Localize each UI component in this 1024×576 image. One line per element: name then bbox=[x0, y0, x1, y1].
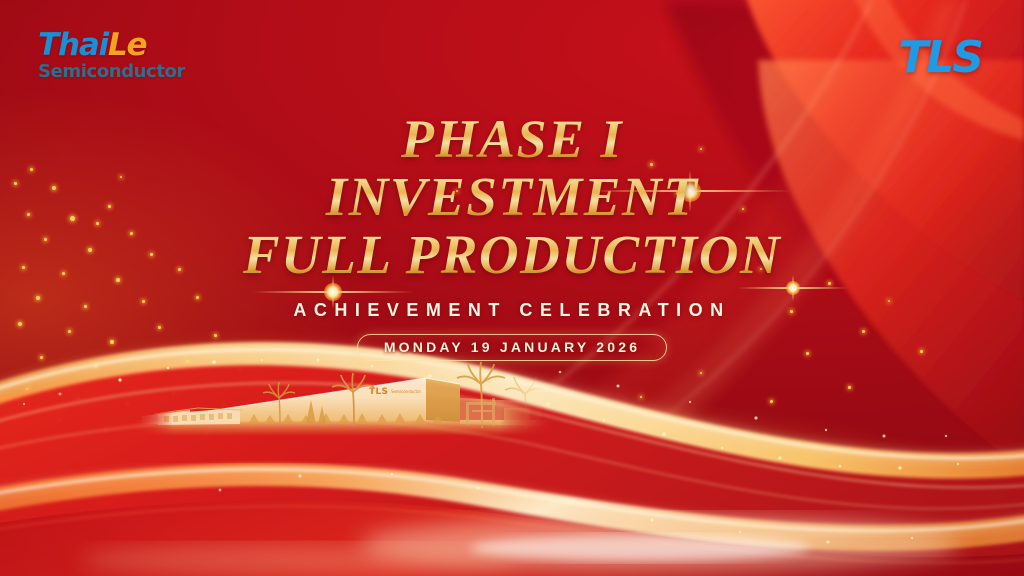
event-subtitle: ACHIEVEMENT CELEBRATION bbox=[0, 300, 1024, 321]
headline-line-1: PHASE I bbox=[0, 112, 1024, 166]
thaile-wordmark: ThaiLe bbox=[38, 30, 185, 61]
svg-text:Semiconductor: Semiconductor bbox=[391, 389, 421, 394]
event-date-badge: MONDAY 19 JANUARY 2026 bbox=[357, 334, 667, 361]
headline-block: PHASE I INVESTMENT FULL PRODUCTION ACHIE… bbox=[0, 112, 1024, 361]
svg-text:TLS: TLS bbox=[369, 387, 388, 397]
banner-stage: TLS Semiconductor bbox=[0, 0, 1024, 576]
headline-line-2: INVESTMENT bbox=[0, 169, 1024, 224]
headline-line-3: FULL PRODUCTION bbox=[0, 227, 1024, 282]
thaile-semiconductor-logo[interactable]: ThaiLe Semiconductor bbox=[38, 30, 185, 81]
thaile-logo-subtitle: Semiconductor bbox=[38, 63, 185, 81]
tls-factory-campus: TLS Semiconductor bbox=[130, 358, 560, 448]
thaile-word-part-1: Thai bbox=[38, 27, 108, 63]
thaile-word-part-2: Le bbox=[108, 27, 146, 63]
tls-logo[interactable]: TLS bbox=[898, 36, 982, 80]
